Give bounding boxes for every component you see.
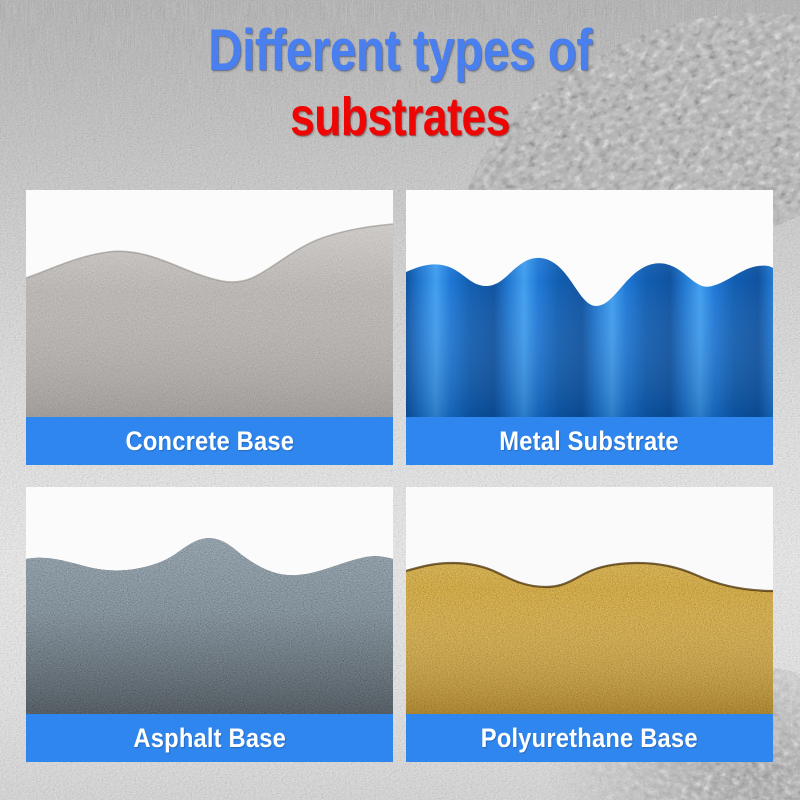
concrete-label-banner: Concrete Base	[26, 417, 393, 465]
substrate-card-polyurethane[interactable]: Polyurethane Base	[406, 487, 773, 762]
metal-photo	[406, 190, 773, 417]
concrete-label-text: Concrete Base	[125, 426, 294, 457]
polyurethane-label-text: Polyurethane Base	[481, 723, 698, 754]
metal-label-text: Metal Substrate	[500, 426, 680, 457]
concrete-photo	[26, 190, 393, 417]
asphalt-photo	[26, 487, 393, 714]
polyurethane-label-banner: Polyurethane Base	[406, 714, 773, 762]
substrate-card-concrete[interactable]: Concrete Base	[26, 190, 393, 465]
asphalt-label-text: Asphalt Base	[133, 723, 286, 754]
substrate-card-metal[interactable]: Metal Substrate	[406, 190, 773, 465]
polyurethane-photo	[406, 487, 773, 714]
substrate-types-poster: Different types of substrates	[0, 0, 800, 800]
metal-label-banner: Metal Substrate	[406, 417, 773, 465]
asphalt-label-banner: Asphalt Base	[26, 714, 393, 762]
substrate-card-asphalt[interactable]: Asphalt Base	[26, 487, 393, 762]
substrate-panel-grid: Concrete Base	[26, 190, 773, 762]
